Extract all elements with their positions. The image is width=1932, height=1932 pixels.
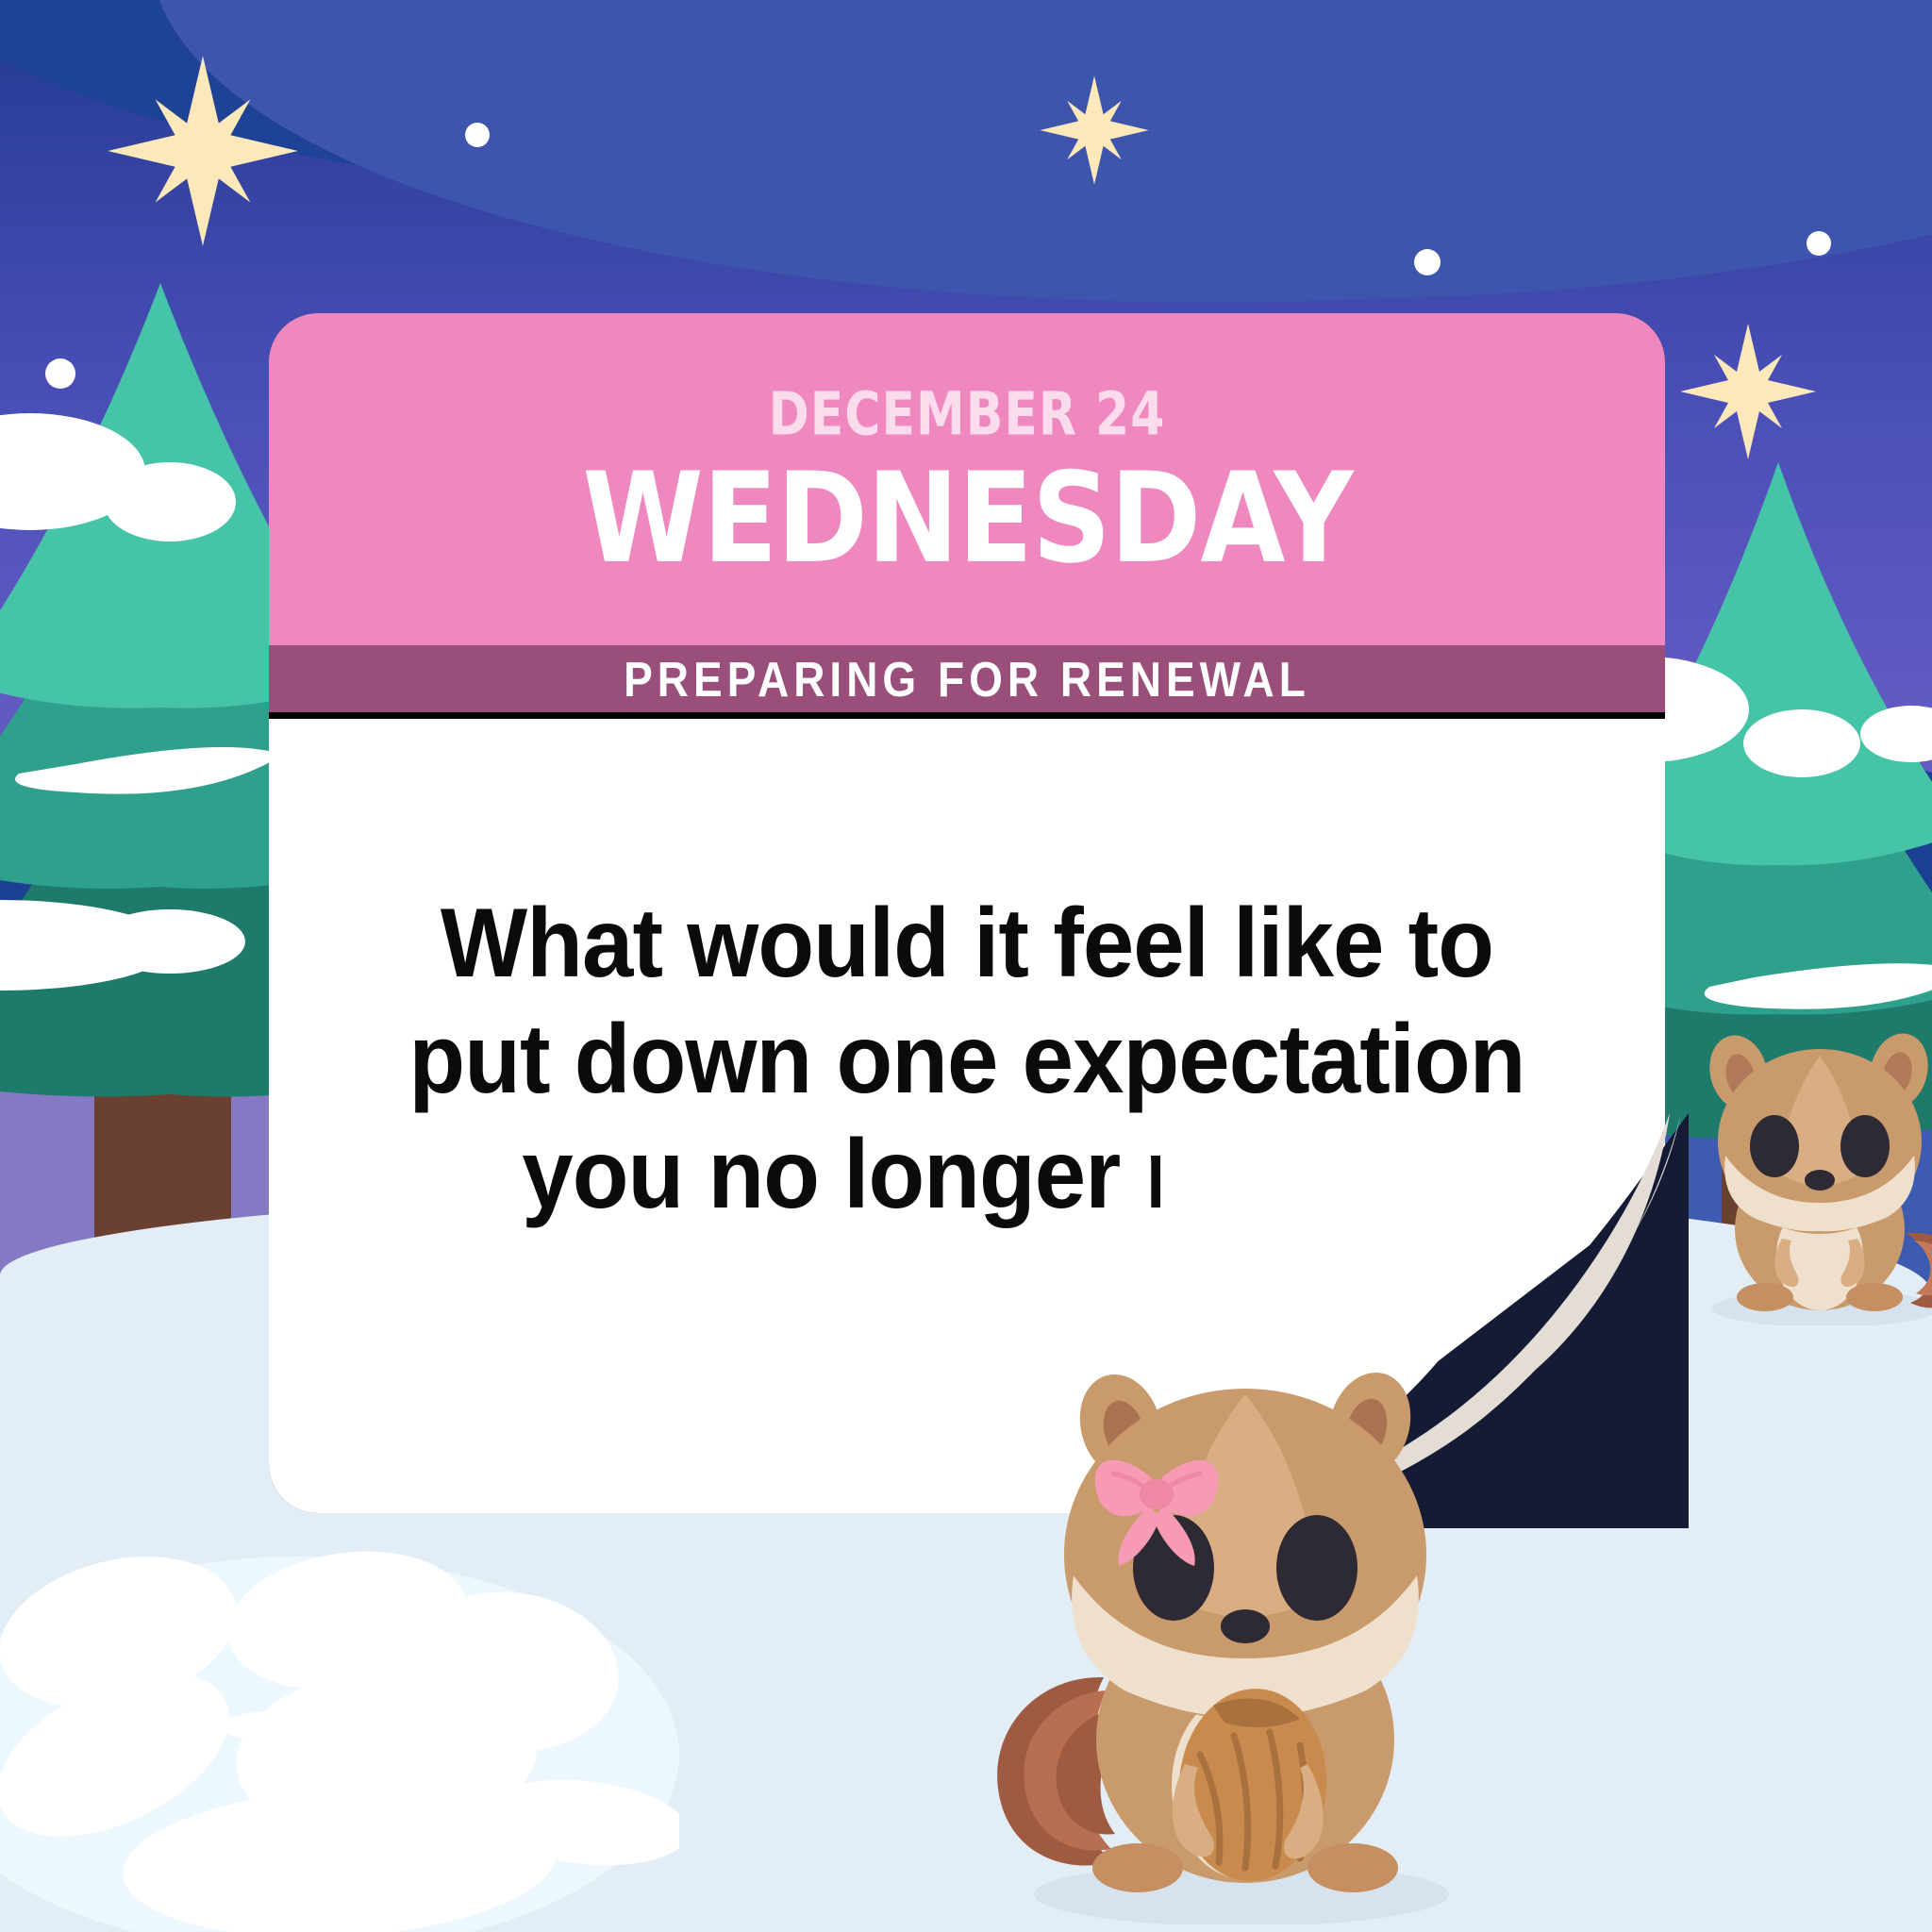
snow-dot-icon-1	[465, 123, 490, 147]
star-icon-top-center	[1038, 74, 1151, 187]
chipmunk-large	[962, 1358, 1509, 1924]
card-header: December 24 Wednesday	[269, 313, 1665, 645]
snow-mound-cluster	[0, 1472, 679, 1932]
snow-dot-icon-2	[1414, 249, 1441, 275]
card-theme-label: Preparing for Renewal	[624, 650, 1310, 707]
card-date: December 24	[769, 380, 1166, 449]
snow-dot-icon-3	[1807, 231, 1831, 256]
poster-canvas: December 24 Wednesday Preparing for Rene…	[0, 0, 1932, 1932]
card-day: Wednesday	[582, 457, 1352, 581]
card-theme-band: Preparing for Renewal	[269, 645, 1665, 719]
chipmunk-small	[1684, 1014, 1932, 1325]
